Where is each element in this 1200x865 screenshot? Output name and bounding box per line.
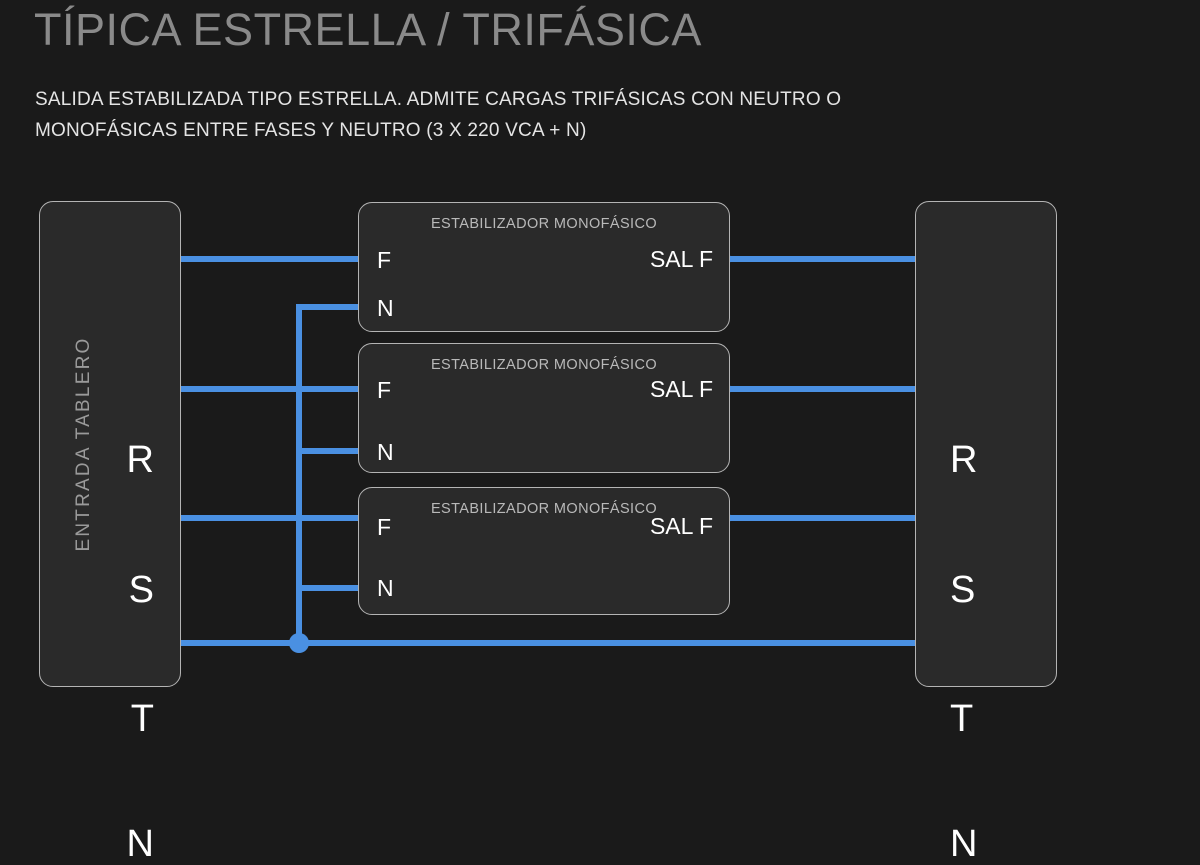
output-panel: R S T N bbox=[915, 201, 1057, 687]
output-terminal-N: N bbox=[950, 825, 977, 863]
stabilizer-2-input-neutral-label: N bbox=[377, 441, 394, 464]
output-terminal-T: T bbox=[950, 700, 973, 738]
stabilizer-2-title: ESTABILIZADOR MONOFÁSICO bbox=[359, 357, 729, 373]
node-neutral-junction bbox=[289, 633, 309, 653]
stabilizer-1-input-neutral-label: N bbox=[377, 297, 394, 320]
stabilizer-1-output-label: SAL F bbox=[650, 248, 713, 271]
input-terminal-N: N bbox=[127, 825, 154, 863]
input-panel: ENTRADA TABLERO R S T N bbox=[39, 201, 181, 687]
input-terminal-R: R bbox=[127, 441, 154, 479]
stabilizer-box-2: ESTABILIZADOR MONOFÁSICO F N SAL F bbox=[358, 343, 730, 473]
input-terminal-S: S bbox=[129, 571, 154, 609]
stabilizer-3-output-label: SAL F bbox=[650, 515, 713, 538]
stabilizer-2-output-label: SAL F bbox=[650, 378, 713, 401]
output-terminal-R: R bbox=[950, 441, 977, 479]
stabilizer-box-3: ESTABILIZADOR MONOFÁSICO F N SAL F bbox=[358, 487, 730, 615]
stabilizer-1-title: ESTABILIZADOR MONOFÁSICO bbox=[359, 216, 729, 232]
stabilizer-1-input-phase-label: F bbox=[377, 249, 391, 272]
stabilizer-3-input-phase-label: F bbox=[377, 516, 391, 539]
stabilizer-3-input-neutral-label: N bbox=[377, 577, 394, 600]
input-panel-label: ENTRADA TABLERO bbox=[73, 337, 95, 552]
stabilizer-2-input-phase-label: F bbox=[377, 379, 391, 402]
wiring-diagram: ENTRADA TABLERO R S T N ESTABILIZADOR MO… bbox=[0, 0, 1200, 721]
stabilizer-box-1: ESTABILIZADOR MONOFÁSICO F N SAL F bbox=[358, 202, 730, 332]
input-terminal-T: T bbox=[131, 700, 154, 738]
output-terminal-S: S bbox=[950, 571, 975, 609]
